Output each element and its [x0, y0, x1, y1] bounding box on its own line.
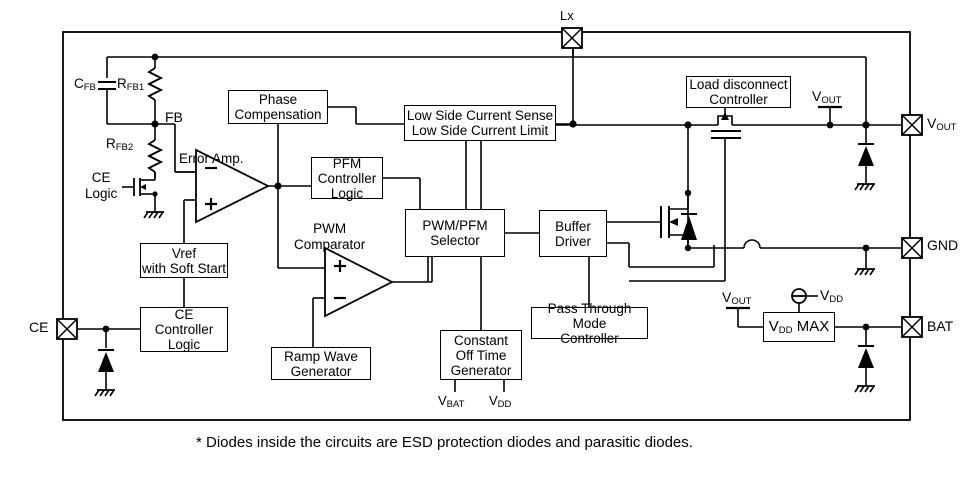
block-pfm-controller-logic[interactable]: PFM Controller Logic — [311, 157, 383, 199]
pin-pad-ce[interactable] — [57, 319, 77, 339]
block-label-line: Buffer — [555, 219, 591, 234]
block-phase-compensation[interactable]: Phase Compensation — [228, 90, 328, 124]
block-label-line: Logic — [155, 337, 214, 352]
pin-label-gnd: GND — [927, 238, 958, 252]
low-side-nmos — [661, 121, 913, 251]
label-vdd-cot: VDD — [489, 394, 511, 410]
wire-phase-compensation — [328, 107, 404, 124]
pin-pad-bat[interactable] — [902, 317, 922, 337]
label-ce-logic: CELogic — [85, 170, 117, 202]
block-label-line: Constant — [451, 333, 512, 348]
block-label-line: PFM — [318, 156, 377, 171]
load-disconnect-pmos — [629, 108, 762, 281]
gnd-pin-network — [855, 245, 875, 275]
pin-label-lx: Lx — [560, 9, 574, 23]
label-error-amp: Error Amp. — [179, 152, 244, 166]
block-label-line: Low Side Current Sense — [407, 108, 553, 123]
label-cfb: CFB — [74, 77, 96, 93]
block-vref-soft-start[interactable]: Vref with Soft Start — [140, 243, 228, 278]
pin-label-bat: BAT — [927, 319, 953, 333]
block-label-line: Selector — [422, 233, 487, 248]
block-label-line: VDD MAX — [769, 319, 829, 336]
block-pwm-pfm-selector[interactable]: PWM/PFM Selector — [405, 209, 505, 257]
block-label-line: Controller — [689, 92, 787, 107]
diagram-footnote: * Diodes inside the circuits are ESD pro… — [196, 434, 693, 451]
block-label-line: Ramp Wave — [284, 349, 358, 364]
block-load-disconnect-controller[interactable]: Load disconnect Controller — [686, 76, 791, 108]
block-label-line: Load disconnect — [689, 77, 787, 92]
block-label-line: PWM/PFM — [422, 218, 487, 233]
block-label-line: Pass Through Mode — [532, 301, 647, 331]
label-rfb2: RFB2 — [106, 137, 133, 153]
label-vout-vddmax-tap: VOUT — [722, 290, 751, 307]
block-ce-controller-logic[interactable]: CE Controller Logic — [140, 307, 228, 352]
wire-ce-pin — [78, 326, 140, 396]
block-label-line: Driver — [555, 234, 591, 249]
pin-label-ce: CE — [29, 320, 48, 334]
block-vdd-max[interactable]: VDD MAX — [763, 312, 835, 342]
block-label-line: Off Time — [451, 348, 512, 363]
block-label-line: Compensation — [234, 107, 321, 122]
pwm-comparator-symbol — [313, 248, 432, 347]
label-fb-node: FB — [165, 110, 183, 124]
block-label-line: Controller — [318, 171, 377, 186]
label-rfb1: RFB1 — [117, 77, 144, 93]
block-pass-through-mode-controller[interactable]: Pass Through Mode Controller — [531, 307, 648, 339]
label-pwm-comparator: PWMComparator — [294, 221, 365, 253]
block-label-line: Logic — [318, 186, 377, 201]
pin-pad-vout[interactable] — [902, 115, 922, 135]
block-label-line: Generator — [284, 364, 358, 379]
block-constant-off-time-generator[interactable]: Constant Off Time Generator — [440, 330, 522, 380]
pin-pad-lx[interactable] — [562, 28, 582, 48]
block-ramp-wave-generator[interactable]: Ramp Wave Generator — [271, 347, 371, 380]
ce-logic-nmos — [122, 172, 164, 218]
label-vdd-supply: VDD — [820, 288, 843, 305]
wire-pfm-to-selector — [383, 178, 420, 209]
block-buffer-driver[interactable]: Buffer Driver — [539, 210, 607, 257]
block-label-line: Low Side Current Limit — [407, 123, 553, 138]
block-label-line: Generator — [451, 363, 512, 378]
label-vout-load-tap: VOUT — [812, 89, 841, 106]
block-low-side-current[interactable]: Low Side Current Sense Low Side Current … — [404, 105, 556, 141]
block-label-line: CE — [155, 307, 214, 322]
block-label-line: Controller — [155, 322, 214, 337]
block-label-line: Vref — [142, 246, 226, 261]
block-label-line: Controller — [532, 331, 647, 346]
block-label-line: with Soft Start — [142, 261, 226, 276]
pin-label-vout: VOUT — [927, 116, 956, 133]
vout-pin-network — [762, 107, 902, 190]
pin-pad-gnd[interactable] — [902, 238, 922, 258]
block-diagram-canvas: Phase Compensation Low Side Current Sens… — [0, 0, 972, 485]
wire-cot-supplies — [455, 380, 504, 392]
label-vbat-cot: VBAT — [438, 394, 464, 410]
block-label-line: Phase — [234, 92, 321, 107]
